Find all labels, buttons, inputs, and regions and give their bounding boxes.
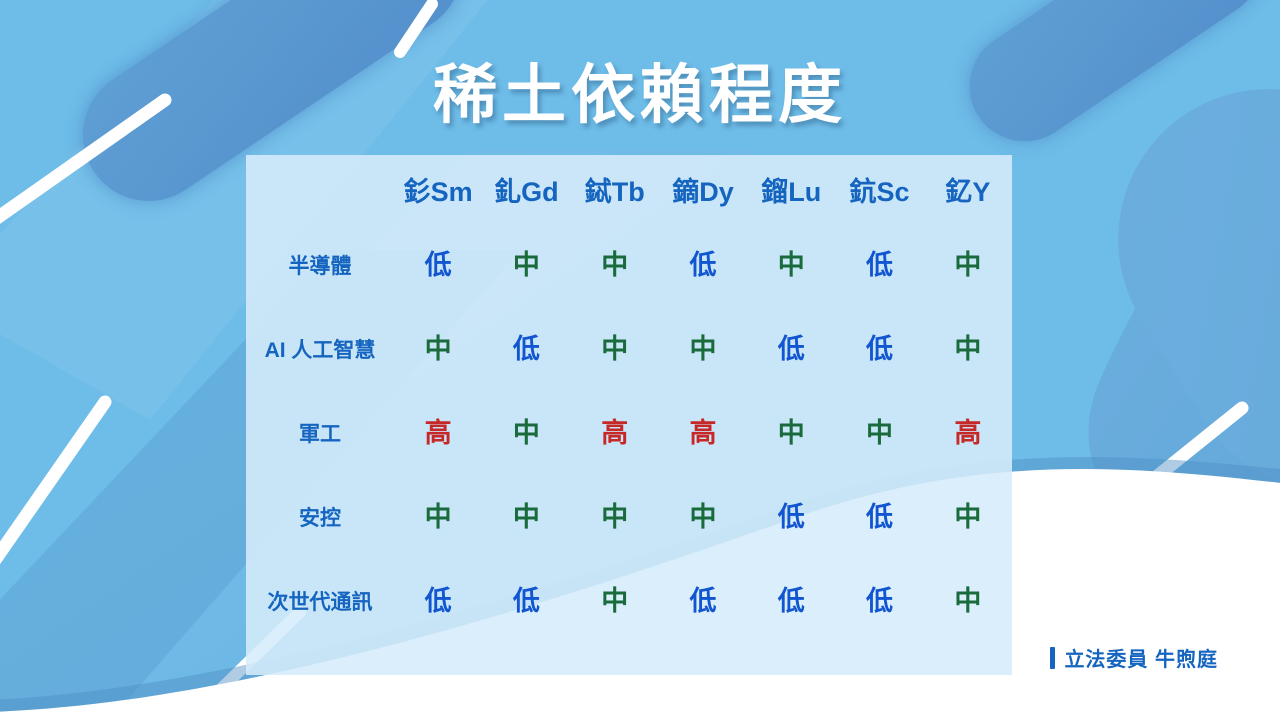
cell-0-3: 低: [659, 223, 747, 307]
cell-value-low: 低: [689, 586, 716, 616]
cell-value-low: 低: [778, 502, 805, 532]
cell-2-1: 中: [482, 391, 570, 475]
cell-value-high: 高: [425, 418, 452, 448]
cell-value-mid: 中: [866, 418, 893, 448]
table-body: 半導體低中中低中低中AI 人工智慧中低中中低低中軍工高中高高中中高安控中中中中低…: [246, 223, 1012, 643]
cell-3-6: 中: [924, 475, 1012, 559]
signature: 立法委員 牛煦庭: [1050, 643, 1218, 672]
cell-value-mid: 中: [513, 418, 540, 448]
cell-value-mid: 中: [778, 250, 805, 280]
dependency-table: 釤Sm釓Gd鋱Tb鏑Dy鎦Lu鈧Sc釔Y 半導體低中中低中低中AI 人工智慧中低…: [246, 155, 1012, 643]
cell-value-mid: 中: [689, 334, 716, 364]
cell-value-mid: 中: [513, 502, 540, 532]
table-row: AI 人工智慧中低中中低低中: [246, 307, 1012, 391]
cell-4-5: 低: [835, 559, 923, 643]
signature-bar-icon: [1050, 647, 1055, 669]
column-header-2: 鋱Tb: [571, 155, 659, 223]
cell-0-2: 中: [571, 223, 659, 307]
cell-value-mid: 中: [425, 502, 452, 532]
cell-1-1: 低: [482, 307, 570, 391]
cell-value-mid: 中: [601, 502, 628, 532]
cell-value-mid: 中: [954, 502, 981, 532]
cell-value-low: 低: [866, 586, 893, 616]
column-header-0: 釤Sm: [394, 155, 482, 223]
cell-value-mid: 中: [425, 334, 452, 364]
cell-1-0: 中: [394, 307, 482, 391]
cell-value-low: 低: [866, 250, 893, 280]
row-header-4: 次世代通訊: [246, 559, 394, 643]
page-title: 稀土依賴程度: [0, 44, 1280, 136]
cell-1-5: 低: [835, 307, 923, 391]
cell-value-low: 低: [513, 334, 540, 364]
cell-4-6: 中: [924, 559, 1012, 643]
cell-3-3: 中: [659, 475, 747, 559]
cell-4-2: 中: [571, 559, 659, 643]
cell-value-low: 低: [866, 334, 893, 364]
table-header-row: 釤Sm釓Gd鋱Tb鏑Dy鎦Lu鈧Sc釔Y: [246, 155, 1012, 223]
cell-value-low: 低: [689, 250, 716, 280]
cell-4-3: 低: [659, 559, 747, 643]
cell-2-0: 高: [394, 391, 482, 475]
cell-3-5: 低: [835, 475, 923, 559]
cell-0-6: 中: [924, 223, 1012, 307]
cell-value-mid: 中: [601, 586, 628, 616]
cell-3-4: 低: [747, 475, 835, 559]
cell-value-mid: 中: [689, 502, 716, 532]
cell-1-6: 中: [924, 307, 1012, 391]
table-row: 半導體低中中低中低中: [246, 223, 1012, 307]
cell-1-3: 中: [659, 307, 747, 391]
cell-value-mid: 中: [778, 418, 805, 448]
row-header-2: 軍工: [246, 391, 394, 475]
cell-value-high: 高: [601, 418, 628, 448]
cell-value-mid: 中: [954, 334, 981, 364]
cell-2-5: 中: [835, 391, 923, 475]
cell-4-1: 低: [482, 559, 570, 643]
slide-canvas: 稀土依賴程度 釤Sm釓Gd鋱Tb鏑Dy鎦Lu鈧Sc釔Y 半導體低中中低中低中AI…: [0, 0, 1280, 720]
cell-value-mid: 中: [954, 250, 981, 280]
table-row: 次世代通訊低低中低低低中: [246, 559, 1012, 643]
cell-0-0: 低: [394, 223, 482, 307]
table-row: 安控中中中中低低中: [246, 475, 1012, 559]
cell-value-mid: 中: [954, 586, 981, 616]
row-header-0: 半導體: [246, 223, 394, 307]
cell-value-high: 高: [689, 418, 716, 448]
cell-3-2: 中: [571, 475, 659, 559]
row-header-3: 安控: [246, 475, 394, 559]
cell-value-low: 低: [778, 586, 805, 616]
cell-1-2: 中: [571, 307, 659, 391]
column-header-6: 釔Y: [924, 155, 1012, 223]
cell-0-5: 低: [835, 223, 923, 307]
cell-value-low: 低: [513, 586, 540, 616]
cell-3-1: 中: [482, 475, 570, 559]
cell-value-low: 低: [866, 502, 893, 532]
cell-2-6: 高: [924, 391, 1012, 475]
cell-value-mid: 中: [601, 334, 628, 364]
cell-value-mid: 中: [513, 250, 540, 280]
cell-4-0: 低: [394, 559, 482, 643]
column-header-5: 鈧Sc: [835, 155, 923, 223]
table-corner-cell: [246, 155, 394, 223]
cell-value-high: 高: [954, 418, 981, 448]
column-header-1: 釓Gd: [482, 155, 570, 223]
table-header: 釤Sm釓Gd鋱Tb鏑Dy鎦Lu鈧Sc釔Y: [246, 155, 1012, 223]
cell-0-1: 中: [482, 223, 570, 307]
column-header-3: 鏑Dy: [659, 155, 747, 223]
column-header-4: 鎦Lu: [747, 155, 835, 223]
cell-2-4: 中: [747, 391, 835, 475]
cell-value-low: 低: [425, 586, 452, 616]
row-header-1: AI 人工智慧: [246, 307, 394, 391]
cell-4-4: 低: [747, 559, 835, 643]
cell-1-4: 低: [747, 307, 835, 391]
cell-value-mid: 中: [601, 250, 628, 280]
cell-value-low: 低: [778, 334, 805, 364]
signature-text: 立法委員 牛煦庭: [1064, 643, 1218, 672]
dependency-table-panel: 釤Sm釓Gd鋱Tb鏑Dy鎦Lu鈧Sc釔Y 半導體低中中低中低中AI 人工智慧中低…: [246, 155, 1012, 675]
table-row: 軍工高中高高中中高: [246, 391, 1012, 475]
cell-value-low: 低: [425, 250, 452, 280]
cell-2-3: 高: [659, 391, 747, 475]
cell-2-2: 高: [571, 391, 659, 475]
cell-0-4: 中: [747, 223, 835, 307]
cell-3-0: 中: [394, 475, 482, 559]
